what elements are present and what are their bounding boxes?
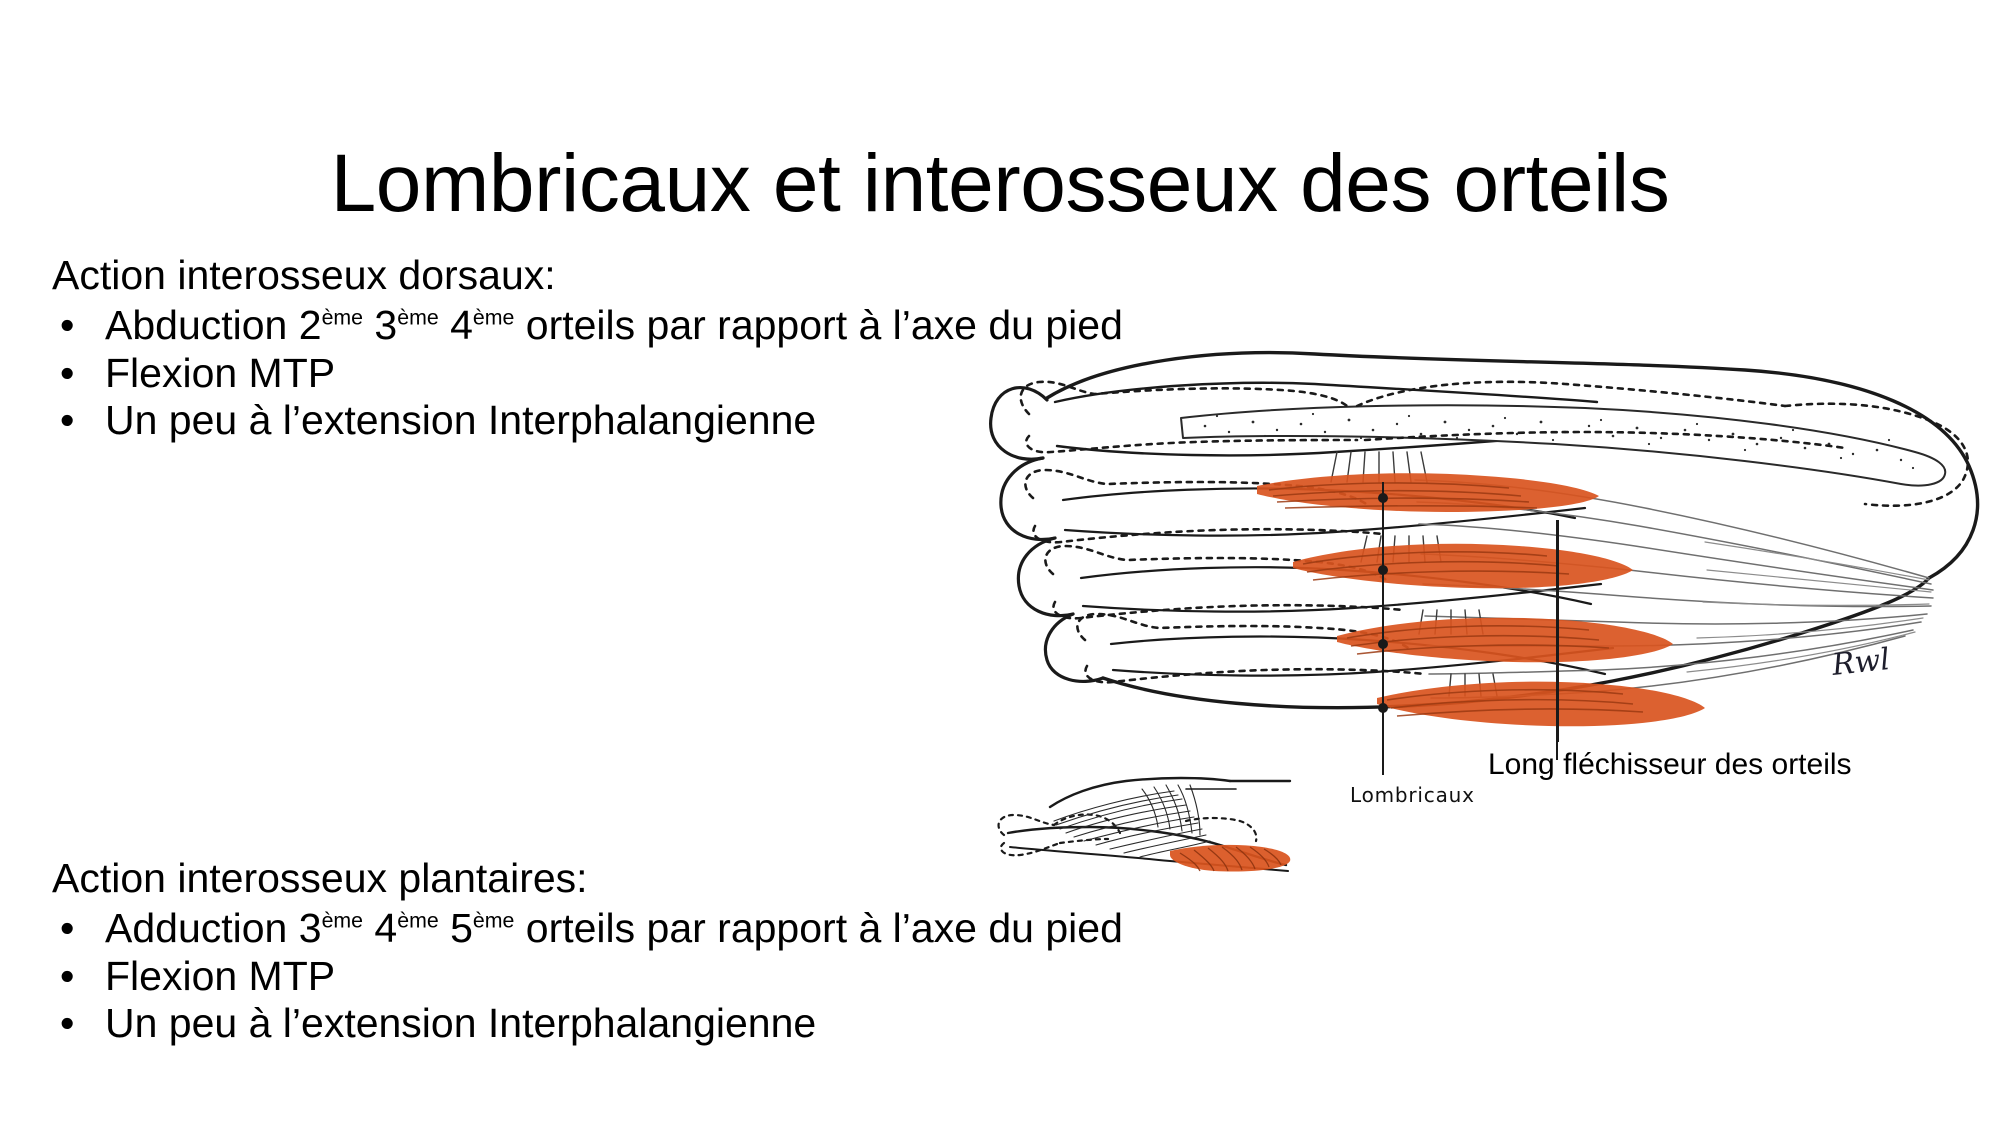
bullet-text-pre: Adduction 3 (105, 905, 322, 951)
toe-lateral-inset-illustration (990, 755, 1310, 890)
slide-canvas: Lombricaux et interosseux des orteils Ac… (0, 0, 2000, 1125)
list-item: • Un peu à l’extension Interphalangienne (52, 1000, 1382, 1048)
label-long-flechisseur: Long fléchisseur des orteils (1488, 748, 1852, 782)
bullet-icon: • (60, 350, 74, 398)
ordinal-suffix: ème (397, 908, 438, 932)
foot-anatomy-illustration (985, 340, 1985, 760)
ordinal-suffix: ème (473, 908, 514, 932)
bullet-text-post: orteils par rapport à l’axe du pied (514, 905, 1123, 951)
leader-line-long-flechisseur (1557, 520, 1559, 742)
bullet-icon: • (60, 302, 74, 350)
page-title: Lombricaux et interosseux des orteils (0, 143, 2000, 225)
bullet-text: Flexion MTP (105, 953, 335, 999)
bullet-icon: • (60, 953, 74, 1001)
ordinal-suffix: ème (322, 305, 363, 329)
bullet-text-pre: Abduction 2 (105, 302, 322, 348)
bullet-icon: • (60, 1000, 74, 1048)
foot-anatomy-svg (985, 340, 1985, 760)
label-lombricaux: Lombricaux (1350, 783, 1475, 807)
ordinal-suffix: ème (473, 305, 514, 329)
toe-lateral-inset-svg (990, 755, 1310, 890)
bullet-text: Adduction 3ème 4ème 5ème orteils par rap… (105, 905, 1123, 951)
bullet-text: Un peu à l’extension Interphalangienne (105, 397, 816, 443)
bullet-icon: • (60, 397, 74, 445)
bullet-text-mid2: 5 (439, 905, 473, 951)
bullet-text: Abduction 2ème 3ème 4ème orteils par rap… (105, 302, 1123, 348)
section-heading-dorsaux: Action interosseux dorsaux: (52, 252, 1382, 300)
artist-signature: Rwl (1830, 642, 1891, 683)
bullet-text: Flexion MTP (105, 350, 335, 396)
ordinal-suffix: ème (322, 908, 363, 932)
leader-line-lombricaux (1382, 520, 1384, 775)
list-item: • Flexion MTP (52, 953, 1382, 1001)
ordinal-suffix: ème (397, 305, 438, 329)
bullet-text-mid1: 4 (363, 905, 397, 951)
bullet-text-mid1: 3 (363, 302, 397, 348)
inset-lumbrical-muscle (1170, 845, 1290, 872)
bullet-icon: • (60, 905, 74, 953)
list-item: • Adduction 3ème 4ème 5ème orteils par r… (52, 905, 1382, 953)
bullet-list-plantaires: • Adduction 3ème 4ème 5ème orteils par r… (52, 905, 1382, 1048)
bullet-text-mid2: 4 (439, 302, 473, 348)
bullet-text: Un peu à l’extension Interphalangienne (105, 1000, 816, 1046)
lumbrical-muscle-bellies (1257, 473, 1705, 726)
